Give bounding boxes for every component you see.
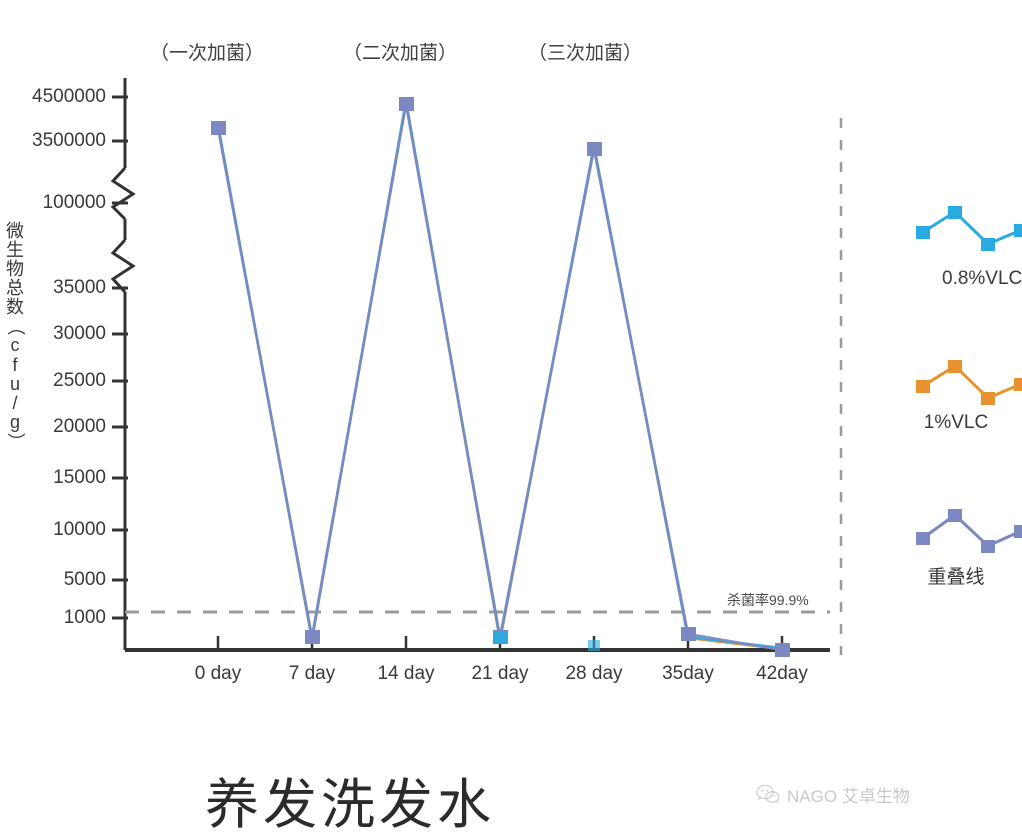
watermark-text: NAGO 艾卓生物: [787, 782, 910, 807]
y-axis-title-char: ）: [5, 428, 24, 454]
y-axis: [113, 78, 133, 650]
y-tick-label: 10000: [53, 519, 106, 541]
x-tick-label: 7 day: [289, 663, 335, 685]
series-08pct-vlc: [218, 101, 782, 648]
y-tick-label: 1000: [64, 607, 106, 629]
y-tick-label: 25000: [53, 370, 106, 392]
phase-annotation-2: （二次加菌）: [343, 38, 457, 65]
x-tick-label: 0 day: [195, 663, 241, 685]
x-tick-label: 21 day: [471, 663, 528, 685]
y-axis-title-char: 微: [2, 222, 28, 241]
wechat-icon: [756, 784, 780, 805]
phase-annotation-3: （三次加菌）: [528, 38, 642, 65]
legend-swatch-1pct-vlc: [916, 360, 1022, 405]
legend-label: 0.8%VLC: [890, 268, 1022, 290]
x-tick-label: 35day: [662, 663, 714, 685]
y-tick-label: 4500000: [32, 86, 106, 108]
data-point-marker: [775, 643, 790, 657]
phase-annotation-1: （一次加菌）: [150, 38, 264, 65]
threshold-annotation: 杀菌率99.9%: [727, 590, 809, 610]
y-tick-label: 3500000: [32, 130, 106, 152]
legend-swatch-08pct-vlc: [916, 206, 1022, 251]
legend-label: 重叠线: [890, 562, 1022, 589]
legend-swatch-overlap-line: [916, 509, 1022, 553]
legend-label: 1%VLC: [890, 412, 1022, 434]
y-axis-title-char: f: [2, 356, 28, 375]
data-point-marker: [587, 142, 602, 156]
watermark: NAGO 艾卓生物: [756, 782, 910, 807]
y-axis-title-char: 生: [2, 241, 28, 260]
series-1pct-vlc: [218, 101, 782, 649]
y-tick-label: 100000: [43, 192, 106, 214]
data-point-marker: [399, 97, 414, 111]
chart-title: 养发洗发水: [0, 760, 700, 839]
y-tick-label: 35000: [53, 277, 106, 299]
x-tick-label: 28 day: [565, 663, 622, 685]
chart-canvas: （一次加菌） （二次加菌） （三次加菌） 4500000 3500000 100…: [0, 0, 1022, 829]
y-tick-label: 20000: [53, 416, 106, 438]
data-point-marker: [681, 627, 696, 641]
y-tick-label: 30000: [53, 323, 106, 345]
y-tick-label: 5000: [64, 569, 106, 591]
y-axis-title-char: 物: [2, 260, 28, 279]
y-axis-title: 微 生 物 总 数 （ c f u / g ）: [2, 222, 28, 451]
x-tick-label: 14 day: [377, 663, 434, 685]
plot-svg: [0, 0, 1022, 829]
y-axis-title-char: /: [2, 394, 28, 413]
x-tick-label: 42day: [756, 663, 808, 685]
y-tick-label: 15000: [53, 467, 106, 489]
y-axis-title-char: u: [2, 375, 28, 394]
data-point-marker: [305, 630, 320, 644]
data-point-marker: [211, 121, 226, 135]
series-overlap-line: [211, 97, 790, 657]
y-axis-title-char: 总: [2, 279, 28, 298]
y-axis-title-char: （: [5, 314, 24, 340]
